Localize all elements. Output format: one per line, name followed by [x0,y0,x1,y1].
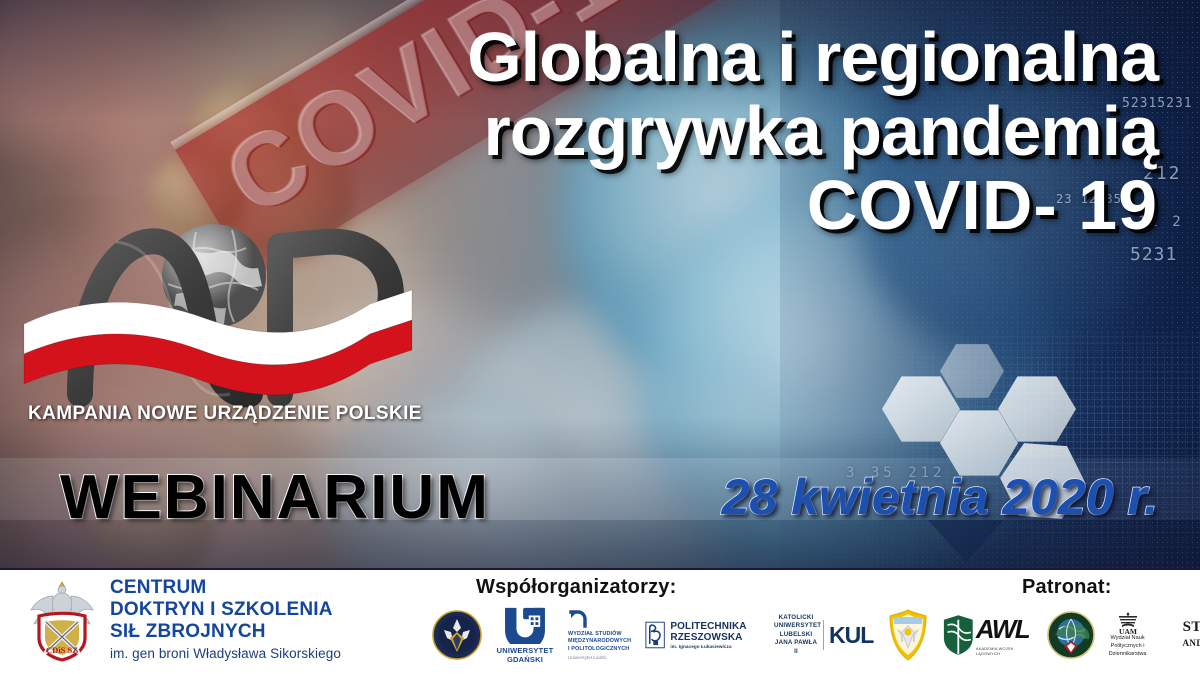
partner-label-awl: AWL [976,614,1033,645]
hexagon-cluster [880,335,1140,565]
partner-logo-uam-wnpid[interactable]: UAM Wydział Nauk Politycznych i Dziennik… [1109,606,1147,664]
partner-label-ug: UNIWERSYTET GDAŃSKI [496,646,554,664]
partner-logo-awl[interactable]: AWL AKADEMIA WOJSK LĄDOWYCH [943,606,1032,664]
partner-sublabel-wsmip: Uniwersytet Łódzki [568,655,607,661]
footer-bar: CDiS SZ CENTRUM DOKTRYN I SZKOLENIA SIŁ … [0,568,1200,674]
saf-line-1: STRATEGY [1183,620,1200,635]
partner-sublabel-awl: AKADEMIA WOJSK LĄDOWYCH [976,646,1033,656]
organizer-line-1: CENTRUM [110,577,341,599]
patronage-heading: Patronat: [1022,576,1112,599]
partner-logos-row: UNIWERSYTET GDAŃSKI WYDZIAŁ STUDIÓW MIĘD… [432,604,1200,666]
partner-label-kul: KATOLICKI UNIWERSYTET LUBELSKI JANA PAWŁ… [774,614,818,656]
poster-canvas: 52315231 212 23 12 35 12 2 5231 3 35 212… [0,0,1200,674]
event-date: 28 kwietnia 2020 r. [722,468,1158,526]
nup-logo-caption: KAMPANIA NOWE URZĄDZENIE POLSKIE [28,403,458,425]
cdis-emblem-text: CDiS SZ [46,645,78,655]
partner-logo-uniwersytet-gdanski[interactable]: UNIWERSYTET GDAŃSKI [496,606,554,664]
partner-label-pr: POLITECHNIKA RZESZOWSKA [670,621,760,643]
partner-logo-uksw[interactable] [432,606,482,664]
saf-wordmark: STRATEGY ANDFUTURE [1183,620,1200,650]
partner-logo-politechnika-rzeszowska[interactable]: POLITECHNIKA RZESZOWSKA im. Ignacego Łuk… [645,606,760,664]
event-type-label: WEBINARIUM [60,462,490,533]
organizer-line-4: im. gen broni Władysława Sikorskiego [110,646,341,661]
organizer-line-3: SIŁ ZBROJNYCH [110,621,341,643]
partner-logo-wsmip-uni-lodz[interactable]: WYDZIAŁ STUDIÓW MIĘDZYNARODOWYCH I POLIT… [568,606,631,664]
saf-and: AND [1183,638,1200,648]
nup-logo: 2X35 [18,198,448,428]
hexagon-shape [940,343,1004,399]
organizer-line-2: DOKTRYN I SZKOLENIA [110,599,341,621]
partner-logo-wojsko-emblem[interactable] [1047,606,1095,664]
partner-logo-kul[interactable]: KATOLICKI UNIWERSYTET LUBELSKI JANA PAWŁ… [774,606,873,664]
title-line-2: rozgrywka pandemią [258,94,1158,168]
saf-line-2: ANDFUTURE [1183,635,1200,650]
partners-block: Współorganizatorzy: Patronat: [432,570,1200,674]
cdis-sz-emblem: CDiS SZ [26,576,98,662]
title-line-1: Globalna i regionalna [258,20,1158,94]
down-arrow-shape [928,520,1004,562]
partner-logo-strategy-and-future[interactable]: STRATEGY ANDFUTURE [1183,606,1200,664]
coorganizers-heading: Współorganizatorzy: [476,576,676,599]
partner-mark-kul: KUL [829,622,873,649]
partner-logo-papieski-shield[interactable] [887,606,929,664]
partner-label-wsmip: WYDZIAŁ STUDIÓW MIĘDZYNARODOWYCH I POLIT… [568,631,631,653]
partner-sublabel-uam: Wydział Nauk Politycznych i Dziennikarst… [1109,635,1147,658]
partner-mark-uam: UAM [1119,627,1137,635]
organizer-name-block: CENTRUM DOKTRYN I SZKOLENIA SIŁ ZBROJNYC… [110,577,341,661]
divider [823,620,824,650]
partner-sublabel-pr: im. Ignacego Łukasiewicza [670,644,760,649]
organizer-block: CDiS SZ CENTRUM DOKTRYN I SZKOLENIA SIŁ … [0,570,432,662]
background-number: 5231 [1130,244,1177,265]
